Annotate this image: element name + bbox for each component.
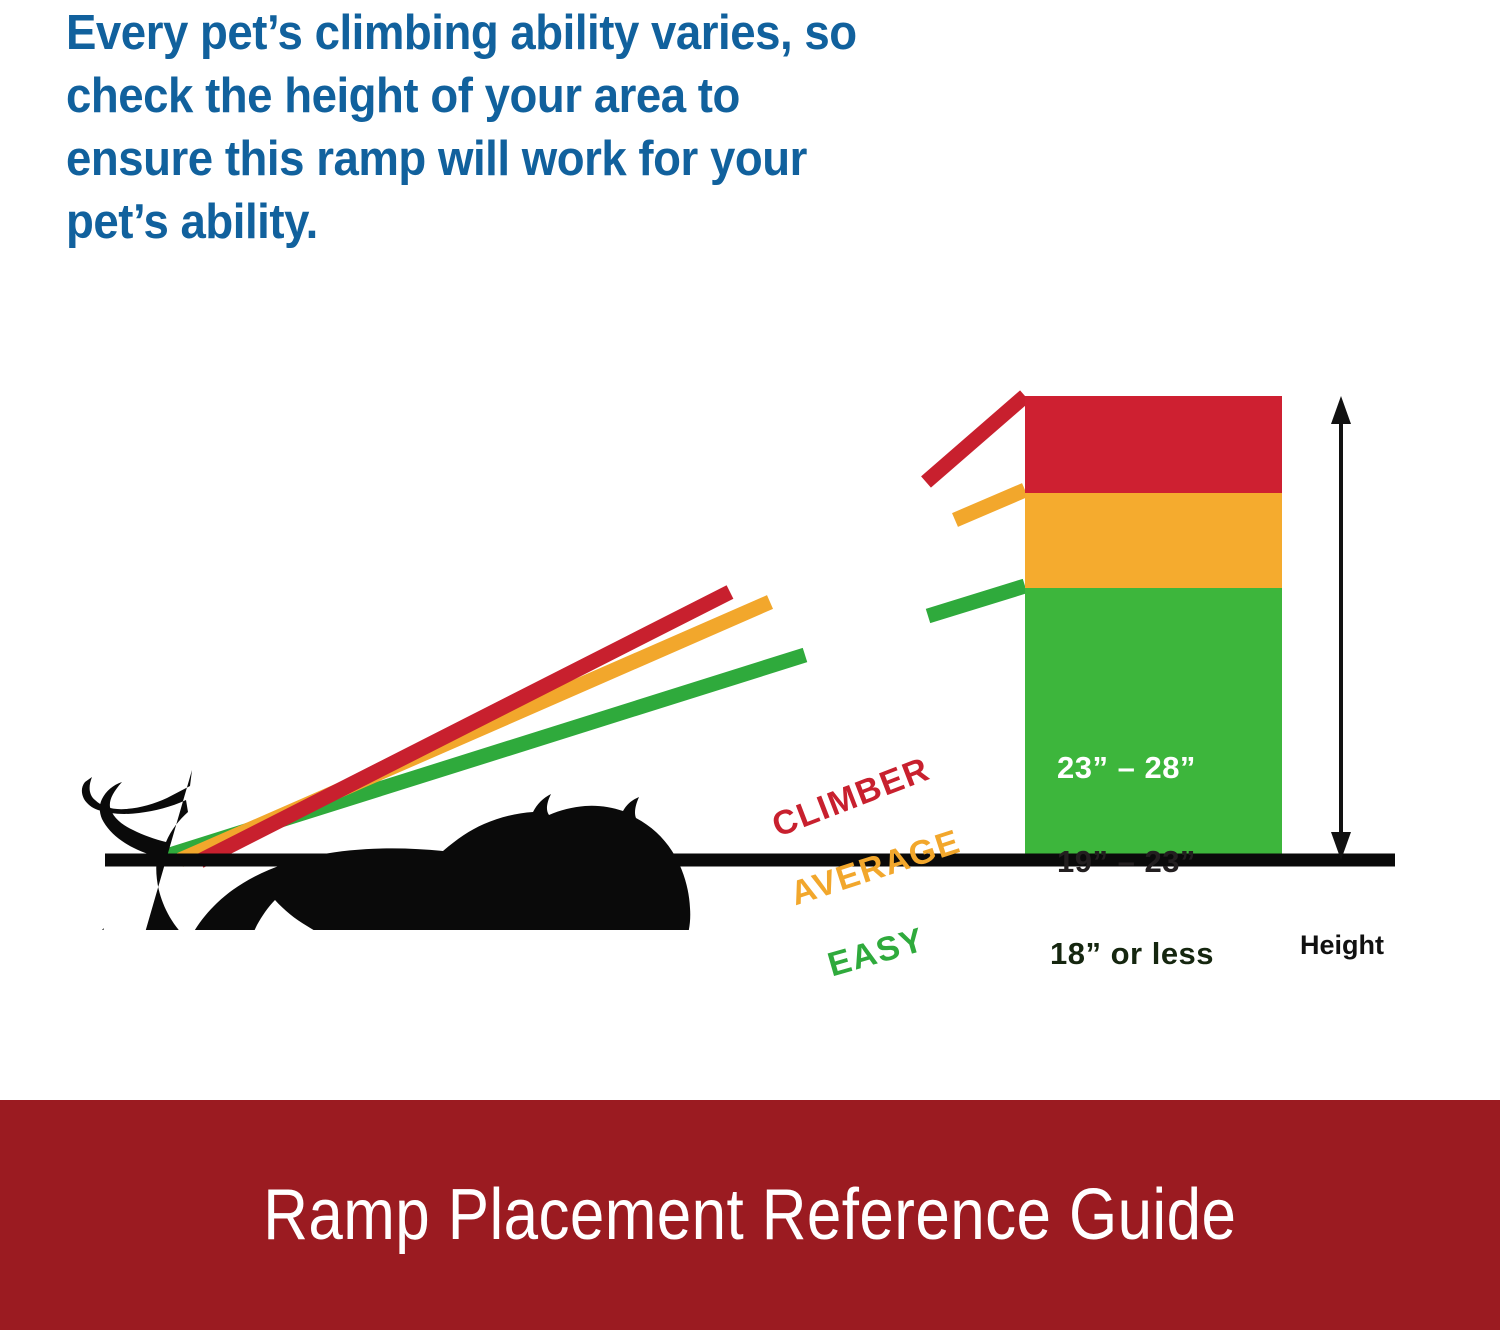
bottom-banner: Ramp Placement Reference Guide <box>0 1100 1500 1330</box>
height-arrow-icon <box>1331 396 1351 860</box>
band-climber <box>1025 396 1282 493</box>
height-axis-label: Height <box>1300 930 1384 961</box>
banner-title: Ramp Placement Reference Guide <box>263 1174 1236 1256</box>
ramp-diagram: 23” – 28” 19” – 23” 18” or less CLIMBER … <box>0 330 1500 930</box>
height-bar <box>1025 396 1282 860</box>
band-label-easy: 18” or less <box>1050 936 1214 972</box>
page-title: Every pet’s climbing ability varies, so … <box>66 2 903 254</box>
ramp-diagram-svg <box>0 330 1500 930</box>
infographic-page: Every pet’s climbing ability varies, so … <box>0 0 1500 1330</box>
band-label-climber: 23” – 28” <box>1057 750 1196 786</box>
band-easy <box>1025 588 1282 860</box>
ramp-label-easy: EASY <box>824 921 930 986</box>
band-label-average: 19” – 23” <box>1057 844 1196 880</box>
band-average <box>1025 493 1282 588</box>
